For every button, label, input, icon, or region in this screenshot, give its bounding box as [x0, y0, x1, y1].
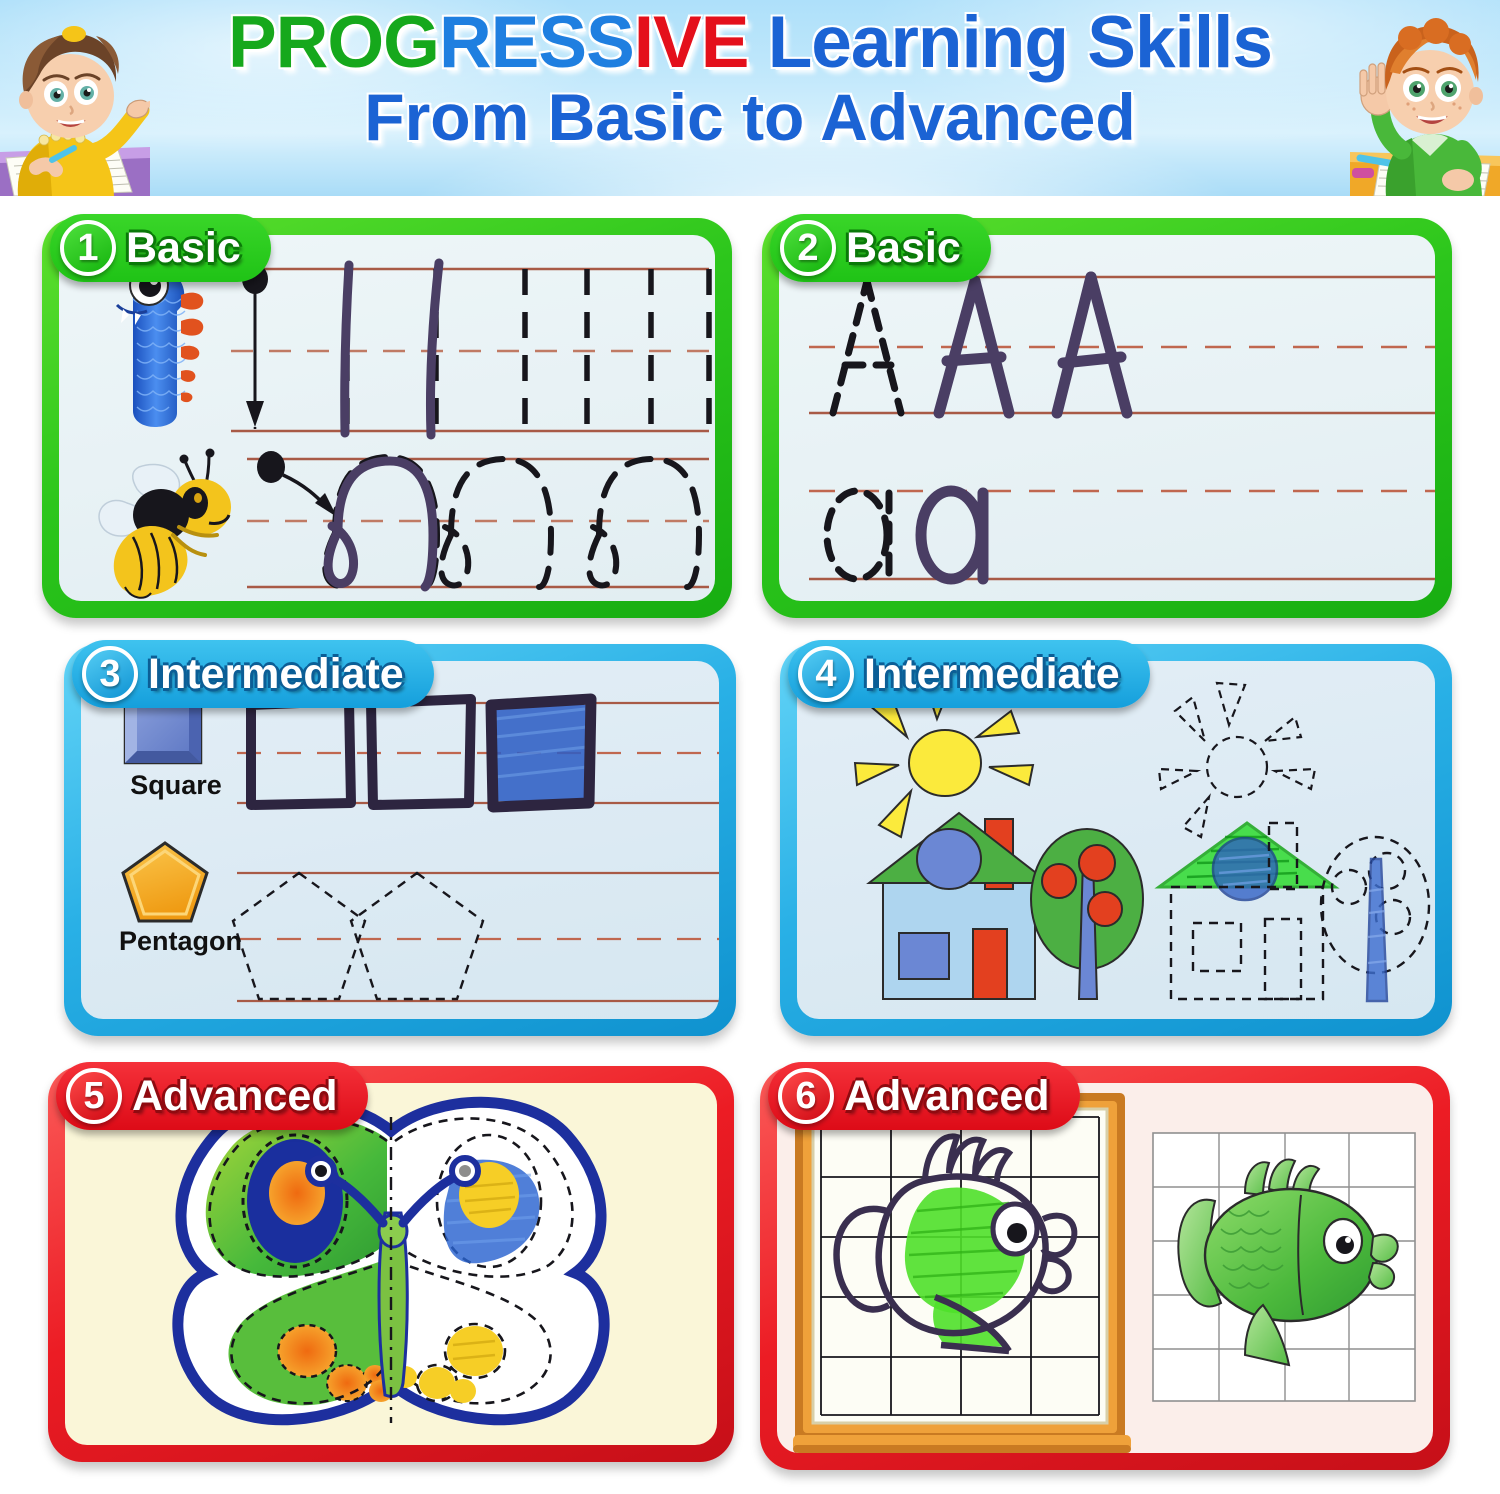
yellow-bee-icon [87, 431, 247, 599]
panel-1-content-area [59, 235, 715, 601]
page-title: PROGRESSIVE Learning Skills [150, 6, 1350, 79]
panel-4-worksheet [797, 661, 1435, 1019]
title-part-prog: PROG [228, 2, 439, 83]
panel-2-basic[interactable]: 2 Basic [762, 218, 1452, 618]
panel-2-badge[interactable]: 2 Basic [770, 214, 991, 282]
panel-1-worksheet [59, 235, 715, 601]
panel-3-intermediate[interactable]: Square Pentagon 3 Intermediate [64, 644, 736, 1036]
panel-6-badge[interactable]: 6 Advanced [768, 1062, 1080, 1130]
panel-1-basic[interactable]: 1 Basic [42, 218, 732, 618]
title-part-learning-skills: Learning Skills [748, 2, 1272, 83]
square-shape-label: Square [121, 770, 231, 801]
pentagon-shape-block: Pentagon [119, 839, 235, 957]
butterfly-symmetry-icon [65, 1083, 717, 1445]
panel-2-worksheet [779, 235, 1435, 601]
panel-2-content-area [779, 235, 1435, 601]
reference-grid-board [1153, 1133, 1415, 1401]
house-icon [869, 813, 1049, 999]
panel-6-level-label: Advanced [844, 1075, 1050, 1118]
panel-3-badge[interactable]: 3 Intermediate [72, 640, 434, 708]
panel-1-number: 1 [60, 220, 116, 276]
boy-character-illustration [1350, 0, 1500, 196]
panel-1-badge[interactable]: 1 Basic [50, 214, 271, 282]
pentagon-shape-label: Pentagon [119, 926, 235, 957]
panel-2-number: 2 [780, 220, 836, 276]
panel-5-content-area [65, 1083, 717, 1445]
panel-4-content-area [797, 661, 1435, 1019]
title-part-ive: IVE [634, 2, 749, 83]
pentagon-icon [119, 839, 211, 925]
panel-5-advanced[interactable]: 5 Advanced [48, 1066, 734, 1462]
panel-6-number: 6 [778, 1068, 834, 1124]
header-banner: PROGRESSIVE Learning Skills From Basic t… [0, 0, 1500, 196]
panel-5-level-label: Advanced [132, 1075, 338, 1118]
panel-4-level-label: Intermediate [864, 653, 1120, 696]
page-subtitle: From Basic to Advanced [150, 83, 1350, 152]
panel-5-number: 5 [66, 1068, 122, 1124]
panel-5-badge[interactable]: 5 Advanced [56, 1062, 368, 1130]
panel-1-level-label: Basic [126, 227, 241, 270]
panel-6-advanced[interactable]: 6 Advanced [760, 1066, 1450, 1470]
panel-6-content-area [777, 1083, 1433, 1453]
girl-character-illustration [0, 0, 150, 196]
panel-3-level-label: Intermediate [148, 653, 404, 696]
easel-board [793, 1093, 1131, 1453]
panel-4-number: 4 [798, 646, 854, 702]
panel-4-badge[interactable]: 4 Intermediate [788, 640, 1150, 708]
panel-5-butterfly-activity [65, 1083, 717, 1445]
title-part-ress: RESS [439, 2, 634, 83]
panels-grid: 1 Basic [0, 196, 1500, 1494]
panel-6-grid-drawing-activity [777, 1083, 1433, 1453]
panel-4-intermediate[interactable]: 4 Intermediate [780, 644, 1452, 1036]
panel-3-worksheet: Square Pentagon [81, 661, 719, 1019]
panel-2-level-label: Basic [846, 227, 961, 270]
header-text-block: PROGRESSIVE Learning Skills From Basic t… [150, 6, 1350, 152]
panel-3-number: 3 [82, 646, 138, 702]
panel-3-content-area: Square Pentagon [81, 661, 719, 1019]
tree-icon [1031, 829, 1143, 999]
